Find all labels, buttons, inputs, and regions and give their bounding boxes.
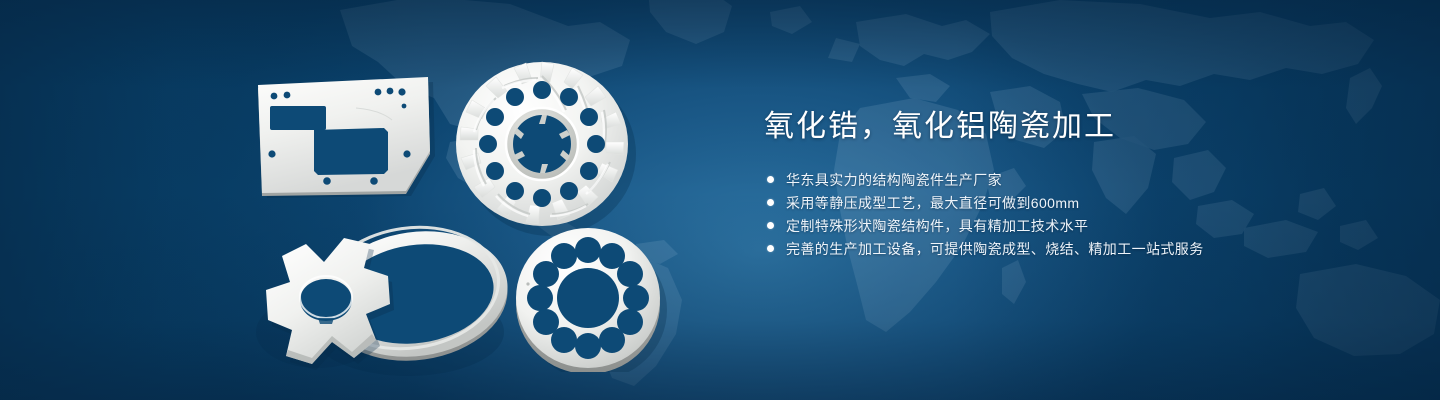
feature-list: 华东具实力的结构陶瓷件生产厂家 采用等静压成型工艺，最大直径可做到600mm 定… (764, 172, 1404, 257)
bullet-dot-icon (767, 176, 774, 183)
ceramic-impeller (446, 48, 642, 238)
feature-text: 华东具实力的结构陶瓷件生产厂家 (786, 172, 1002, 188)
bullet-dot-icon (767, 222, 774, 229)
ceramic-perforated-disc (512, 224, 668, 372)
ceramic-processing-banner: 氧化锆，氧化铝陶瓷加工 华东具实力的结构陶瓷件生产厂家 采用等静压成型工艺，最大… (0, 0, 1440, 400)
bullet-dot-icon (767, 199, 774, 206)
banner-text-block: 氧化锆，氧化铝陶瓷加工 华东具实力的结构陶瓷件生产厂家 采用等静压成型工艺，最大… (764, 108, 1404, 264)
ceramic-base-plate (252, 74, 438, 198)
page-title: 氧化锆，氧化铝陶瓷加工 (764, 108, 1404, 146)
feature-text: 定制特殊形状陶瓷结构件，具有精加工技术水平 (786, 218, 1088, 234)
list-item: 采用等静压成型工艺，最大直径可做到600mm (764, 195, 1404, 211)
feature-text: 采用等静压成型工艺，最大直径可做到600mm (786, 195, 1079, 211)
bullet-dot-icon (767, 245, 774, 252)
feature-text: 完善的生产加工设备，可提供陶瓷成型、烧结、精加工一站式服务 (786, 241, 1204, 257)
list-item: 华东具实力的结构陶瓷件生产厂家 (764, 172, 1404, 188)
ceramic-products-group (0, 0, 720, 400)
list-item: 完善的生产加工设备，可提供陶瓷成型、烧结、精加工一站式服务 (764, 241, 1404, 257)
ceramic-cross-plate-and-ring (248, 222, 528, 378)
list-item: 定制特殊形状陶瓷结构件，具有精加工技术水平 (764, 218, 1404, 234)
